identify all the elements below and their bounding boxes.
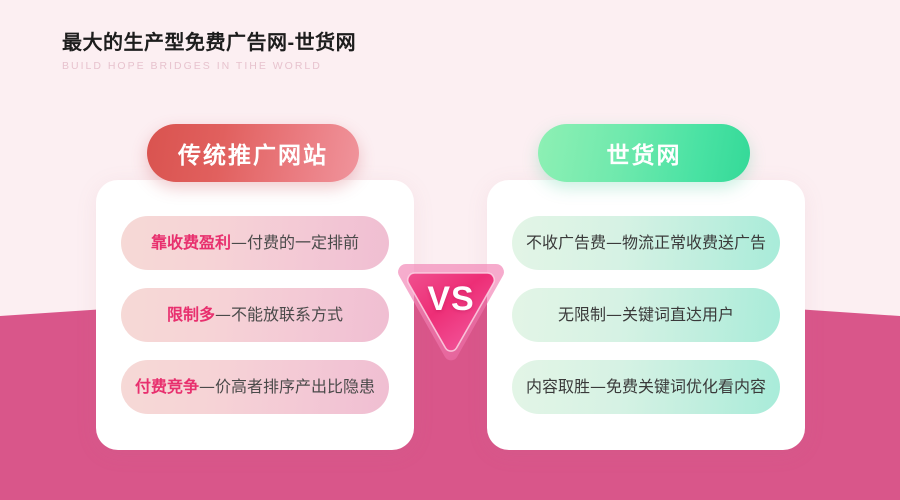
page-title: 最大的生产型免费广告网-世货网 bbox=[62, 30, 582, 56]
slide-canvas: 最大的生产型免费广告网-世货网 BUILD HOPE BRIDGES IN TI… bbox=[0, 0, 900, 500]
item-highlight: 限制多 bbox=[167, 305, 215, 325]
versus-badge: VS bbox=[396, 258, 506, 368]
list-item[interactable]: 付费竞争—价高者排序产出比隐患 bbox=[121, 360, 389, 414]
item-text: 内容取胜—免费关键词优化看内容 bbox=[526, 377, 766, 397]
item-text: 无限制—关键词直达用户 bbox=[558, 305, 734, 325]
item-text: —不能放联系方式 bbox=[215, 305, 343, 325]
item-highlight: 付费竞争 bbox=[135, 377, 199, 397]
versus-triangle-icon bbox=[396, 258, 506, 368]
item-text: —付费的一定排前 bbox=[231, 233, 359, 253]
right-comparison-card: 不收广告费—物流正常收费送广告 无限制—关键词直达用户 内容取胜—免费关键词优化… bbox=[487, 180, 805, 450]
item-highlight: 靠收费盈利 bbox=[151, 233, 231, 253]
list-item[interactable]: 不收广告费—物流正常收费送广告 bbox=[512, 216, 780, 270]
list-item[interactable]: 靠收费盈利—付费的一定排前 bbox=[121, 216, 389, 270]
list-item[interactable]: 无限制—关键词直达用户 bbox=[512, 288, 780, 342]
list-item[interactable]: 限制多—不能放联系方式 bbox=[121, 288, 389, 342]
list-item[interactable]: 内容取胜—免费关键词优化看内容 bbox=[512, 360, 780, 414]
item-text: 不收广告费—物流正常收费送广告 bbox=[526, 233, 766, 253]
left-items-list: 靠收费盈利—付费的一定排前 限制多—不能放联系方式 付费竞争—价高者排序产出比隐… bbox=[96, 180, 414, 450]
item-text: —价高者排序产出比隐患 bbox=[199, 377, 375, 397]
left-comparison-card: 靠收费盈利—付费的一定排前 限制多—不能放联系方式 付费竞争—价高者排序产出比隐… bbox=[96, 180, 414, 450]
header: 最大的生产型免费广告网-世货网 BUILD HOPE BRIDGES IN TI… bbox=[62, 30, 582, 73]
right-items-list: 不收广告费—物流正常收费送广告 无限制—关键词直达用户 内容取胜—免费关键词优化… bbox=[487, 180, 805, 450]
left-column-pill-label: 传统推广网站 bbox=[178, 136, 328, 170]
left-column-pill[interactable]: 传统推广网站 bbox=[147, 124, 359, 182]
page-subtitle: BUILD HOPE BRIDGES IN TIHE WORLD bbox=[62, 59, 582, 73]
right-column-pill[interactable]: 世货网 bbox=[538, 124, 750, 182]
right-column-pill-label: 世货网 bbox=[607, 136, 682, 170]
